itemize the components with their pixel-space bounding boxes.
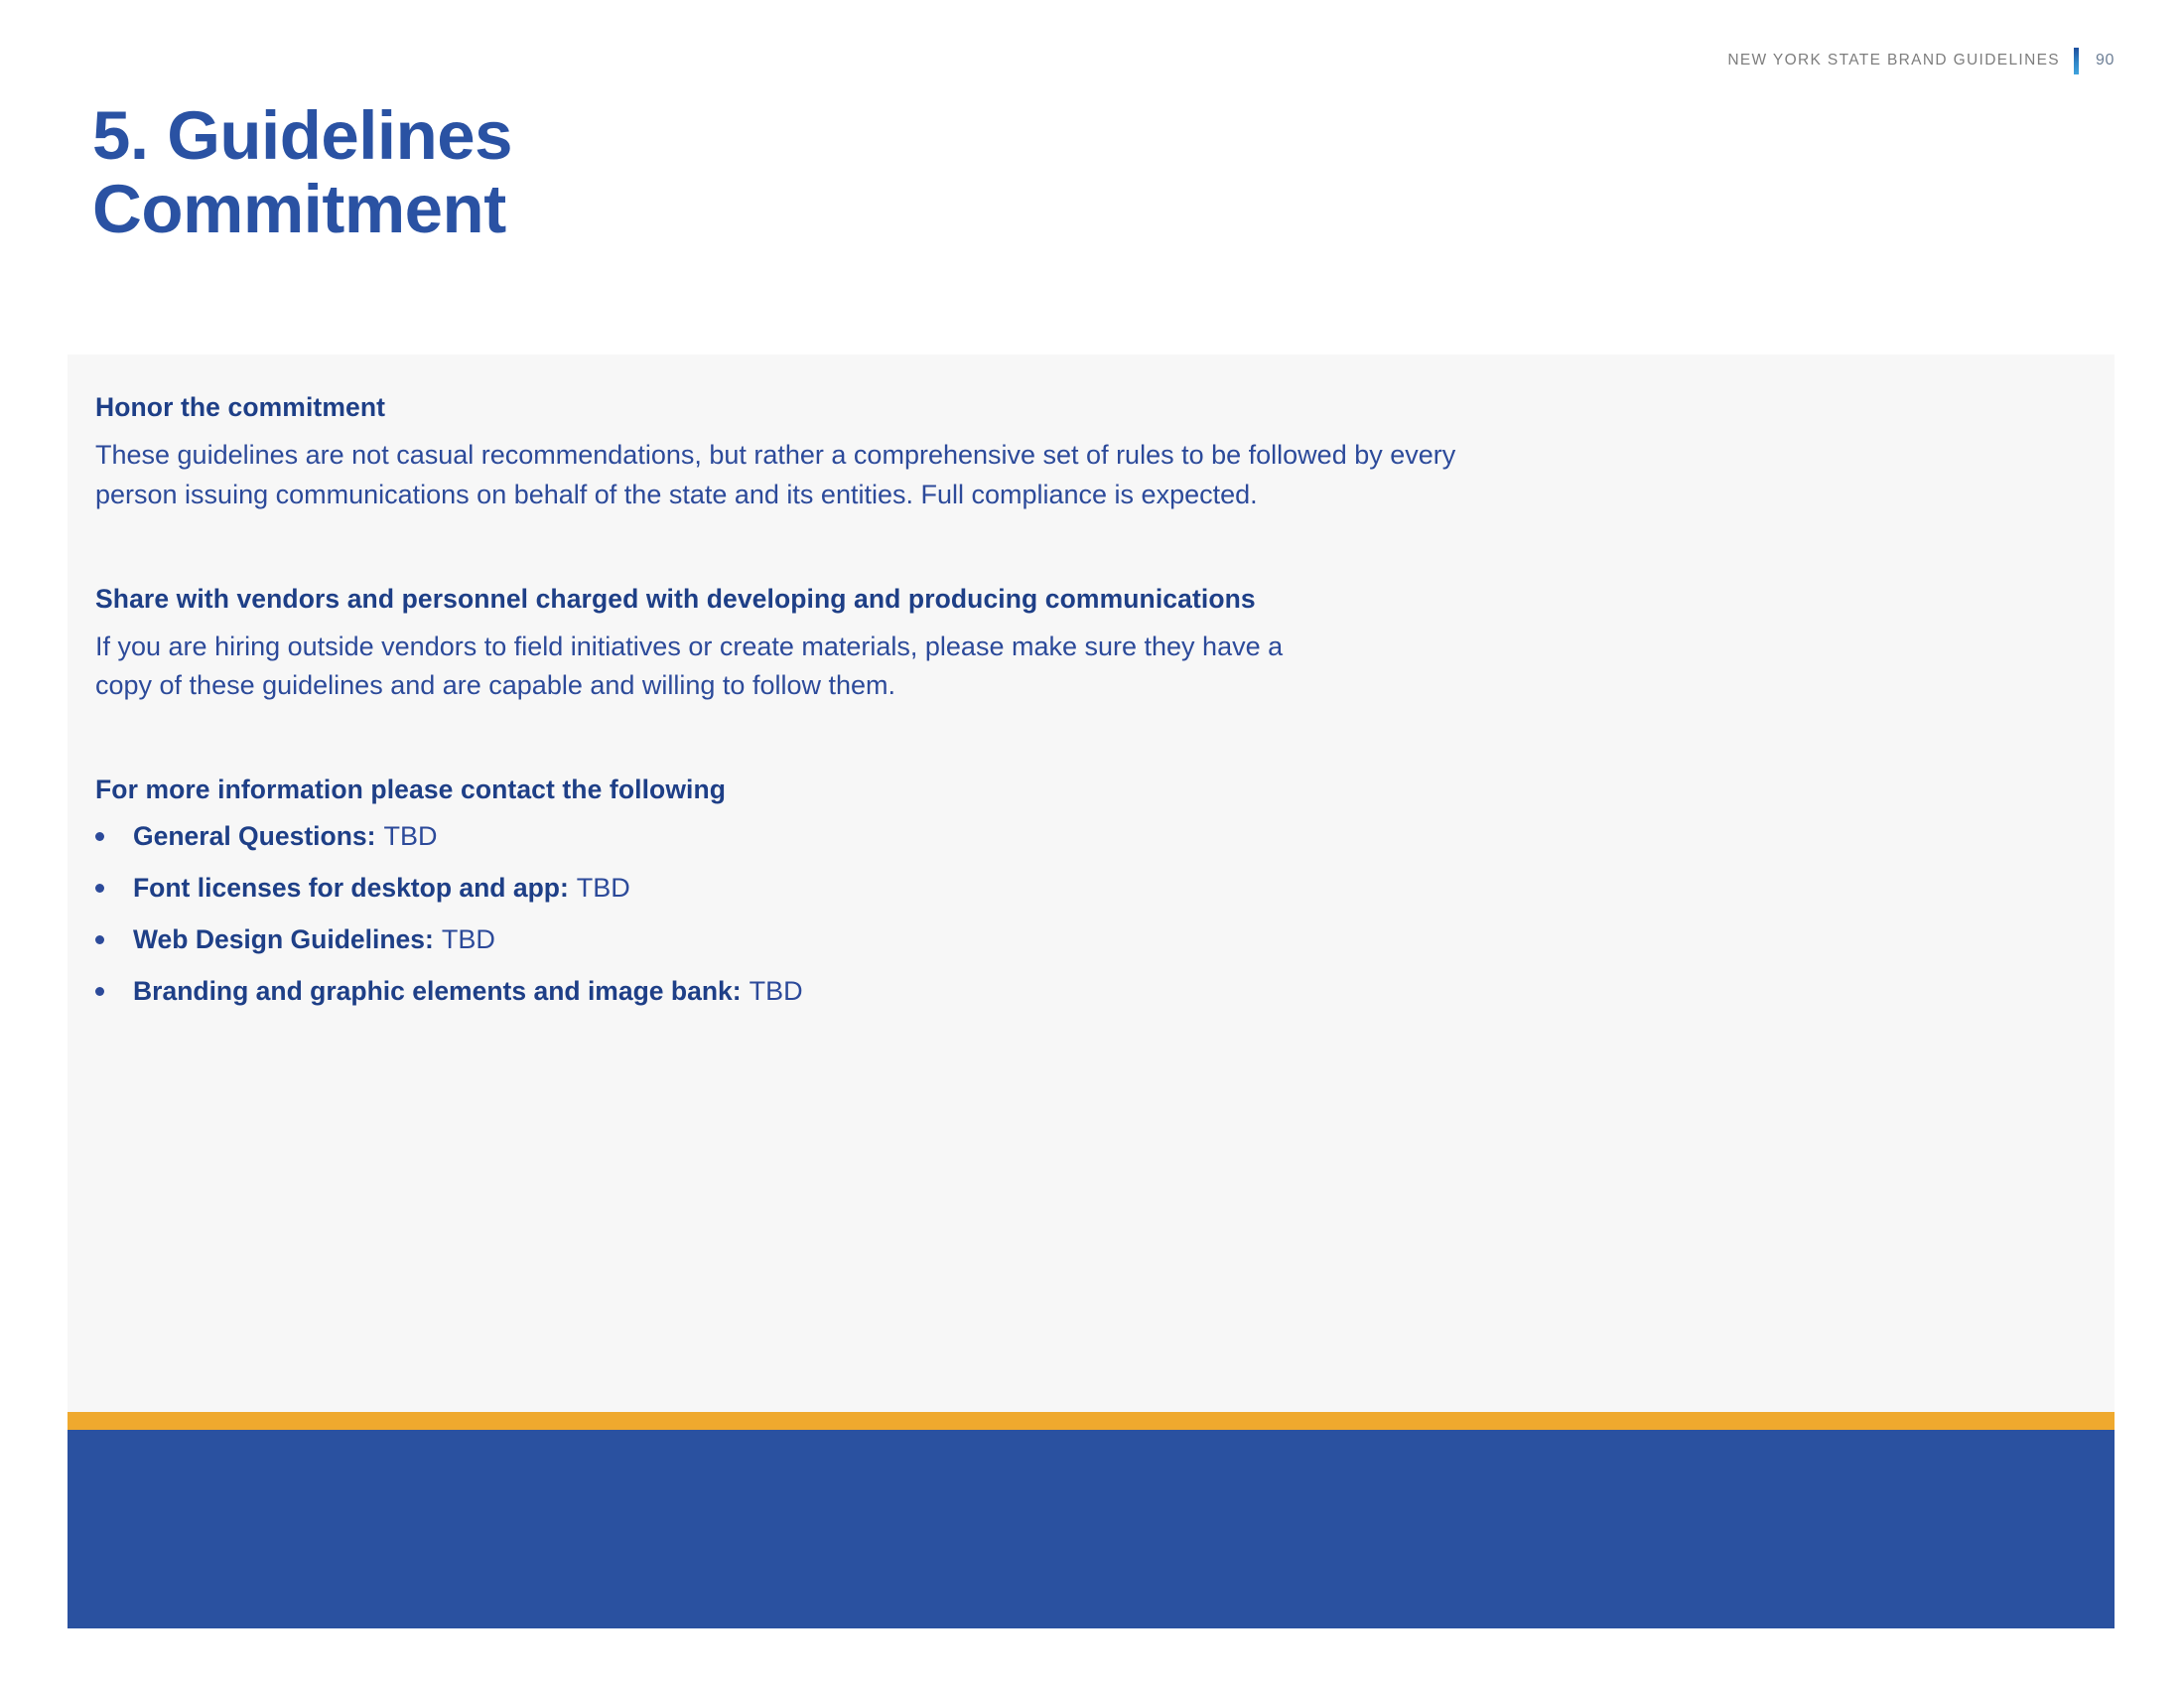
list-item-label: Web Design Guidelines: [133, 922, 434, 956]
paragraph-line: copy of these guidelines and are capable… [95, 666, 2011, 705]
section-share-with-vendors: Share with vendors and personnel charged… [95, 582, 2115, 706]
list-item: Branding and graphic elements and image … [95, 974, 2115, 1009]
bullet-dot-icon [95, 924, 133, 950]
section-spacer [95, 705, 2115, 773]
bullet-dot-icon [95, 873, 133, 899]
list-item-label: Font licenses for desktop and app: [133, 871, 569, 905]
list-item-value: TBD [442, 922, 495, 957]
bullet-dot-icon [95, 976, 133, 1002]
list-item-label: General Questions: [133, 819, 375, 853]
paragraph-line: If you are hiring outside vendors to fie… [95, 628, 2011, 666]
footer-blue-block [68, 1430, 2115, 1628]
list-item: General Questions: TBD [95, 819, 2115, 854]
section-honor-the-commitment: Honor the commitment These guidelines ar… [95, 390, 2115, 514]
section-heading: For more information please contact the … [95, 773, 2115, 806]
section-paragraph: These guidelines are not casual recommen… [95, 436, 2011, 513]
page-title: 5. Guidelines Commitment [92, 99, 512, 246]
footer-gold-bar [68, 1412, 2115, 1430]
page-title-line-1: 5. Guidelines [92, 99, 512, 173]
page-number: 90 [2096, 53, 2115, 69]
content-panel: Honor the commitment These guidelines ar… [68, 354, 2115, 1412]
running-header: New York State Brand Guidelines 90 [1727, 46, 2115, 75]
header-divider-rule [2074, 48, 2079, 74]
list-item-value: TBD [383, 819, 437, 854]
paragraph-line: These guidelines are not casual recommen… [95, 436, 2011, 475]
section-paragraph: If you are hiring outside vendors to fie… [95, 628, 2011, 705]
list-item: Web Design Guidelines: TBD [95, 922, 2115, 957]
bullet-dot-icon [95, 821, 133, 847]
section-heading: Honor the commitment [95, 390, 2115, 424]
section-spacer [95, 514, 2115, 582]
header-brand-label: New York State Brand Guidelines [1727, 53, 2060, 69]
list-item-label: Branding and graphic elements and image … [133, 974, 742, 1008]
contact-list: General Questions: TBD Font licenses for… [95, 819, 2115, 1009]
section-heading: Share with vendors and personnel charged… [95, 582, 2115, 616]
list-item-value: TBD [577, 871, 630, 906]
list-item: Font licenses for desktop and app: TBD [95, 871, 2115, 906]
page-title-line-2: Commitment [92, 173, 512, 246]
list-item-value: TBD [750, 974, 803, 1009]
section-contact-information: For more information please contact the … [95, 773, 2115, 1009]
paragraph-line: person issuing communications on behalf … [95, 476, 2011, 514]
